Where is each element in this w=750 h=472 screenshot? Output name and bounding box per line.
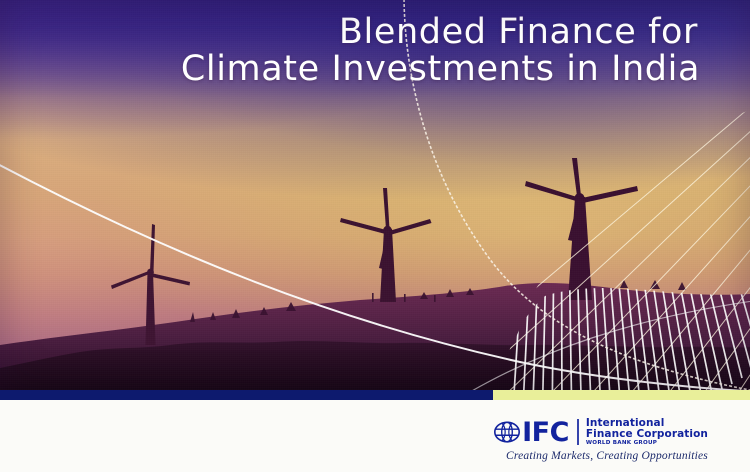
logo-lockup: IFC International Finance Corporation WO… (494, 418, 708, 446)
title-line-2: Climate Investments in India (181, 51, 700, 88)
ifc-logo: IFC International Finance Corporation WO… (494, 418, 708, 462)
logo-acronym: IFC (522, 419, 569, 446)
publication-cover: Blended Finance for Climate Investments … (0, 0, 750, 472)
accent-bar-blue (0, 390, 493, 400)
title-line-1: Blended Finance for (181, 14, 698, 51)
page-title: Blended Finance for Climate Investments … (181, 14, 698, 88)
cover-photograph: Blended Finance for Climate Investments … (0, 0, 750, 392)
cover-footer: IFC International Finance Corporation WO… (0, 400, 750, 472)
org-line-1: International (586, 418, 708, 429)
logo-divider (577, 419, 579, 445)
logo-tagline: Creating Markets, Creating Opportunities (506, 450, 708, 462)
org-line-2: Finance Corporation (586, 429, 708, 440)
logo-org-name: International Finance Corporation WORLD … (586, 418, 708, 446)
org-line-3: WORLD BANK GROUP (586, 441, 708, 447)
accent-bar-yellow (493, 390, 750, 400)
globe-icon (494, 419, 520, 445)
